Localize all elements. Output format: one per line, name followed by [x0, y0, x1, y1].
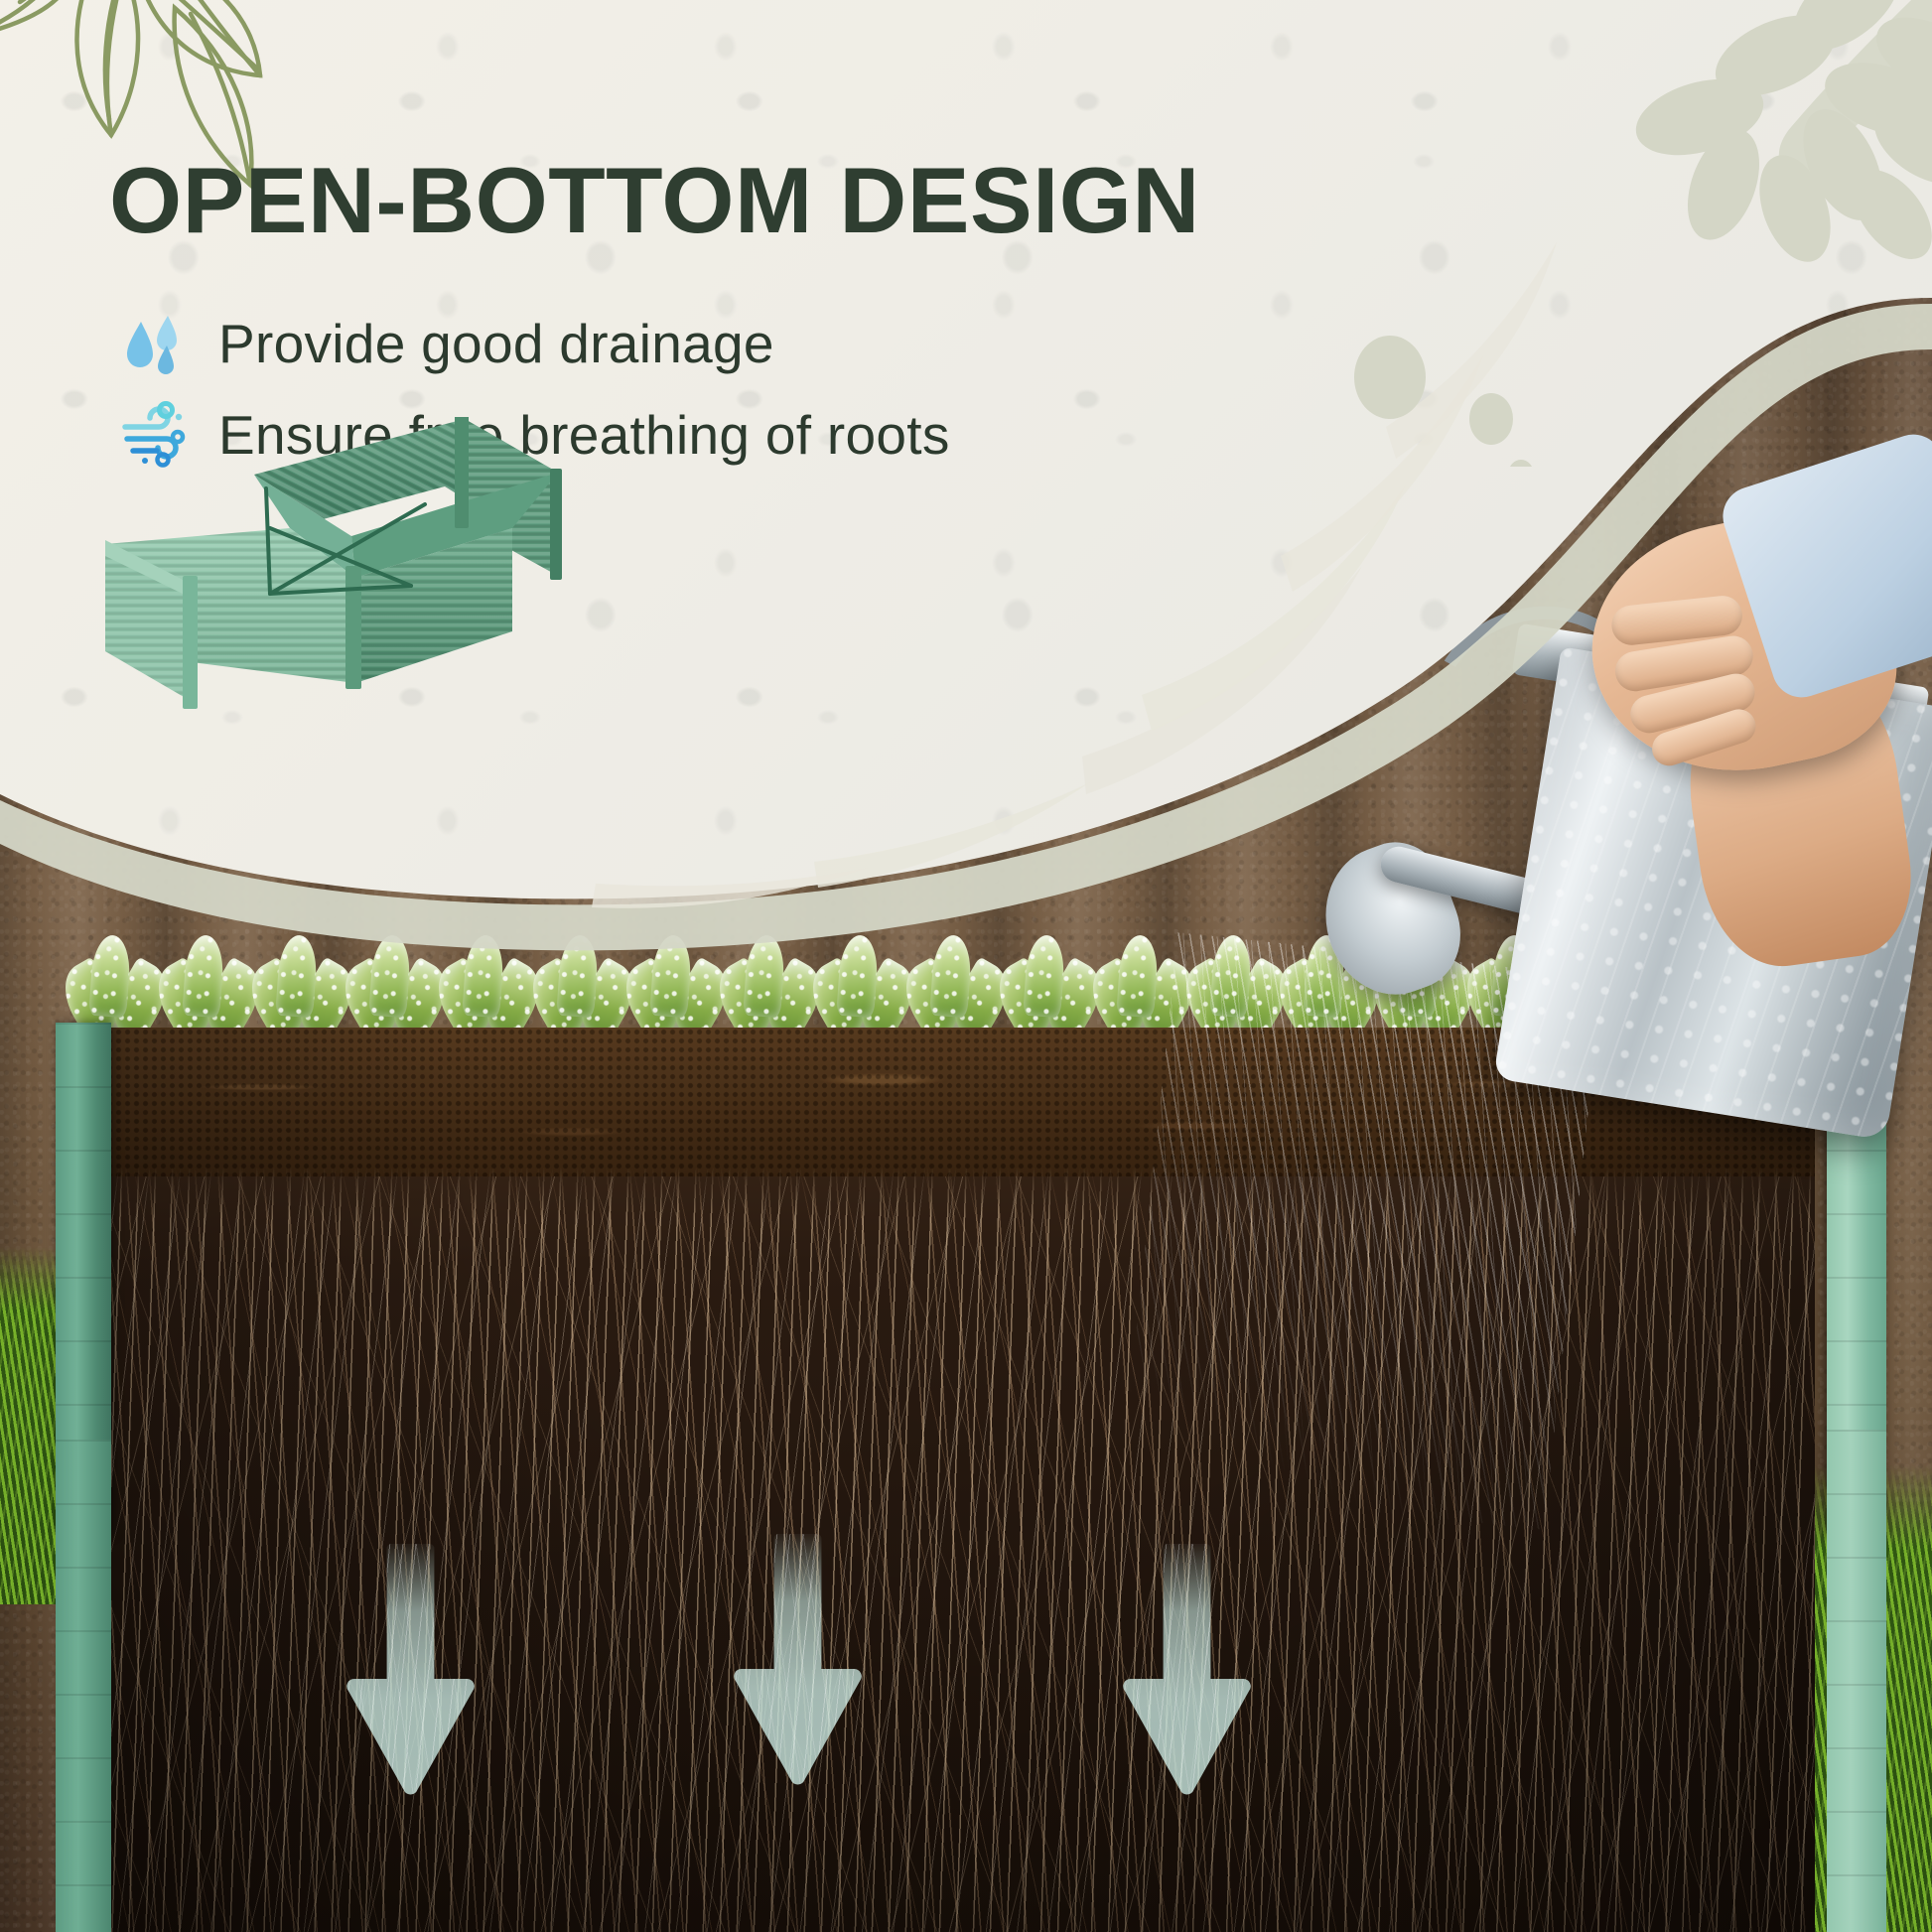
page-title: OPEN-BOTTOM DESIGN [109, 154, 1200, 247]
feature-item-drainage: Provide good drainage [117, 298, 950, 389]
product-feature-infographic: OPEN-BOTTOM DESIGN Provide good drainage [0, 0, 1932, 1932]
drainage-arrow-3 [1114, 1544, 1263, 1802]
bed-post-left-lower [56, 1440, 111, 1932]
water-drops-icon [117, 306, 193, 381]
drainage-arrow-2 [725, 1534, 874, 1792]
dot-accents [1326, 228, 1604, 467]
drainage-arrow-1 [338, 1544, 486, 1802]
feature-label-drainage: Provide good drainage [218, 312, 774, 375]
raised-garden-bed-illustration [95, 417, 562, 735]
bed-post-right-lower [1827, 1430, 1886, 1932]
